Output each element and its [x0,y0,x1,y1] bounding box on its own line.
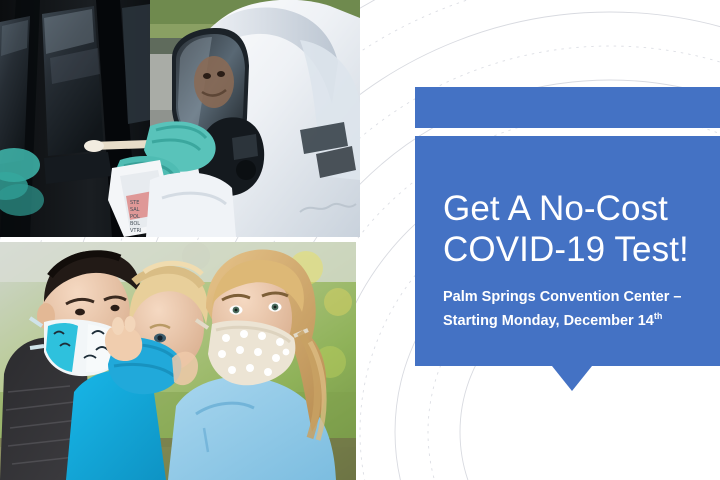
ordinal-suffix: th [654,311,663,321]
accent-bar [415,87,720,128]
panel-pointer-triangle [552,366,592,391]
subtitle-line-2-text: Starting Monday, December 14 [443,313,654,329]
message-panel: Get A No-Cost COVID-19 Test! Palm Spring… [415,136,720,366]
subtitle-line-1: Palm Springs Convention Center – [443,288,706,307]
headline-line-1: Get A No-Cost [443,188,706,229]
covid-testing-photo: STE SAL POL BOL VTRI [0,0,360,237]
svg-text:SAL: SAL [130,207,140,213]
svg-text:POL: POL [130,214,140,220]
subtitle-block: Palm Springs Convention Center – Startin… [443,288,706,331]
message-panel-content: Get A No-Cost COVID-19 Test! Palm Spring… [415,136,720,366]
headline-line-2: COVID-19 Test! [443,229,706,270]
subtitle-line-2: Starting Monday, December 14th [443,307,706,331]
family-masks-photo [0,242,356,480]
svg-text:BOL: BOL [130,221,140,227]
svg-text:STE: STE [130,200,139,206]
slide-canvas: STE SAL POL BOL VTRI [0,0,720,480]
svg-text:VTRI: VTRI [130,228,141,234]
